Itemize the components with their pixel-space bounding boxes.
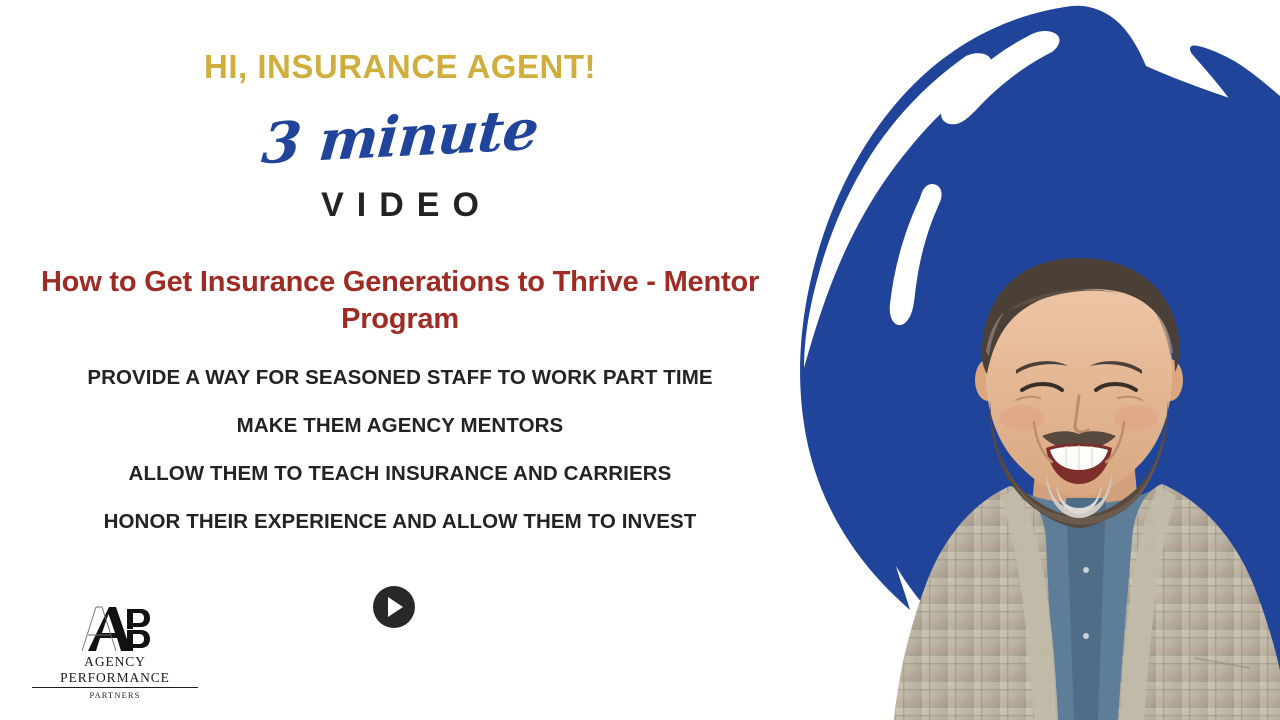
page-title: How to Get Insurance Generations to Thri… xyxy=(40,264,760,338)
speaker-portrait xyxy=(870,240,1280,720)
greeting-heading: HI, INSURANCE AGENT! xyxy=(0,48,800,86)
video-word-heading: VIDEO xyxy=(0,186,800,225)
brand-logo: AGENCY PERFORMANCE PARTNERS xyxy=(25,605,205,700)
logo-sub-name: PARTNERS xyxy=(25,690,205,700)
hero-graphic xyxy=(760,0,1280,720)
list-item: ALLOW THEM TO TEACH INSURANCE AND CARRIE… xyxy=(0,462,800,486)
video-slide: HI, INSURANCE AGENT! 3 minute VIDEO How … xyxy=(0,0,1280,720)
content-column: HI, INSURANCE AGENT! 3 minute VIDEO How … xyxy=(0,0,800,720)
bullet-list: PROVIDE A WAY FOR SEASONED STAFF TO WORK… xyxy=(0,366,800,558)
play-button[interactable] xyxy=(373,586,415,628)
play-icon xyxy=(388,597,403,617)
list-item: MAKE THEM AGENCY MENTORS xyxy=(0,414,800,438)
logo-org-name: AGENCY PERFORMANCE xyxy=(32,654,198,688)
duration-script-text: 3 minute xyxy=(0,83,805,191)
app-monogram-icon xyxy=(69,605,161,653)
list-item: PROVIDE A WAY FOR SEASONED STAFF TO WORK… xyxy=(0,366,800,390)
list-item: HONOR THEIR EXPERIENCE AND ALLOW THEM TO… xyxy=(0,510,800,534)
